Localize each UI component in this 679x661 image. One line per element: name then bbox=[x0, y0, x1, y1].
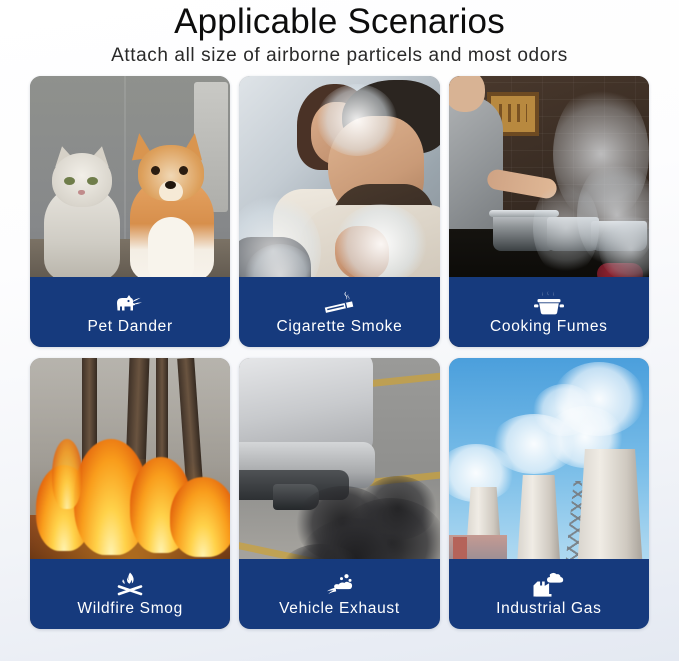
caption-bar: Industrial Gas bbox=[449, 559, 649, 629]
cooling-tower bbox=[517, 475, 561, 571]
caption-label: Cooking Fumes bbox=[490, 317, 608, 337]
caption-label: Pet Dander bbox=[87, 317, 172, 337]
cat-eye-right bbox=[87, 177, 98, 185]
page-subtitle: Attach all size of airborne particels an… bbox=[30, 42, 649, 69]
campfire-icon bbox=[114, 572, 146, 598]
cooling-tower bbox=[577, 449, 643, 571]
flame bbox=[170, 477, 230, 557]
cat-eye-left bbox=[64, 177, 75, 185]
steam-plume bbox=[533, 384, 595, 436]
scenario-grid: Pet Dander bbox=[30, 76, 649, 629]
exhaust-cloud-icon bbox=[321, 572, 357, 598]
flame bbox=[52, 439, 82, 509]
caption-bar: Pet Dander bbox=[30, 277, 230, 347]
header: Applicable Scenarios Attach all size of … bbox=[30, 0, 649, 69]
scenario-card-vehicle-exhaust[interactable]: Vehicle Exhaust bbox=[239, 358, 439, 629]
applicable-scenarios-page: Applicable Scenarios Attach all size of … bbox=[0, 0, 679, 661]
smoke-puff bbox=[335, 204, 427, 284]
caption-label: Cigarette Smoke bbox=[277, 317, 403, 337]
smoke-puff bbox=[317, 84, 397, 156]
scenario-card-industrial-gas[interactable]: Industrial Gas bbox=[449, 358, 649, 629]
dog-chest bbox=[148, 217, 194, 281]
cat-head bbox=[52, 153, 112, 207]
cat-nose bbox=[78, 190, 85, 195]
scenario-card-cooking-fumes[interactable]: Cooking Fumes bbox=[449, 76, 649, 347]
woman-head bbox=[449, 76, 485, 112]
caption-bar: Cooking Fumes bbox=[449, 277, 649, 347]
caption-bar: Wildfire Smog bbox=[30, 559, 230, 629]
page-title: Applicable Scenarios bbox=[30, 0, 649, 42]
scenario-card-wildfire-smog[interactable]: Wildfire Smog bbox=[30, 358, 230, 629]
caption-label: Vehicle Exhaust bbox=[279, 599, 400, 619]
dog-icon bbox=[113, 290, 147, 316]
caption-label: Industrial Gas bbox=[496, 599, 601, 619]
caption-bar: Cigarette Smoke bbox=[239, 277, 439, 347]
exhaust-smoke bbox=[359, 476, 437, 540]
steam-plume bbox=[533, 180, 599, 276]
factory-icon bbox=[533, 572, 565, 598]
scenario-card-pet-dander[interactable]: Pet Dander bbox=[30, 76, 230, 347]
caption-bar: Vehicle Exhaust bbox=[239, 559, 439, 629]
scenario-card-cigarette-smoke[interactable]: Cigarette Smoke bbox=[239, 76, 439, 347]
caption-label: Wildfire Smog bbox=[77, 599, 183, 619]
steaming-pot-icon bbox=[533, 290, 565, 316]
cigarette-icon bbox=[321, 290, 357, 316]
